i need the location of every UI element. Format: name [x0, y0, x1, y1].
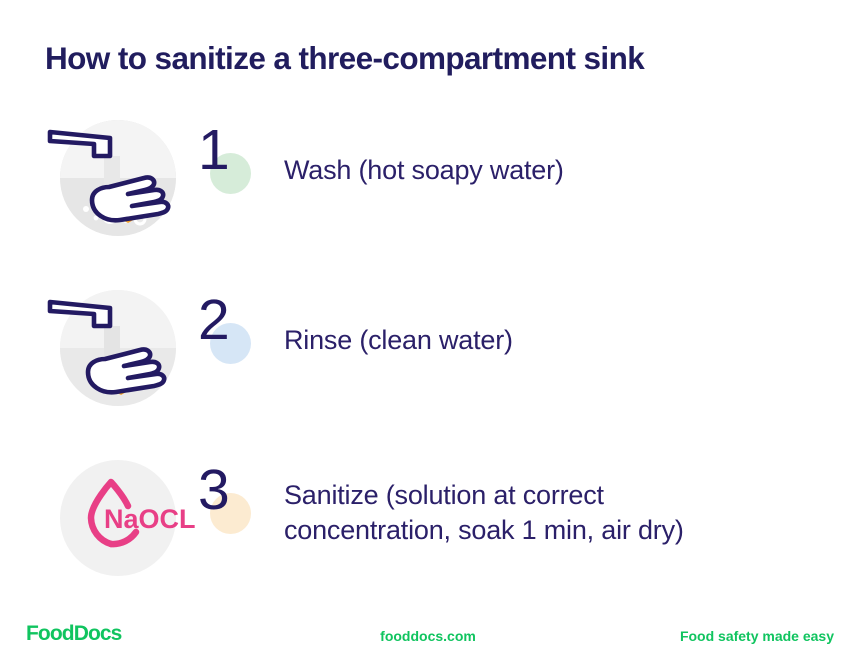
step-2-number-wrap: 2: [194, 278, 266, 418]
step-1-number-wrap: 1: [194, 108, 266, 248]
step-1-label-line1: Wash (hot soapy water): [284, 155, 564, 185]
footer: FoodDocs fooddocs.com Food safety made e…: [0, 608, 856, 670]
step-3-icon-wrap: NaOCL: [48, 448, 188, 588]
faucet-hands-sponge-bubbles-icon: [48, 108, 188, 248]
step-item-2: 2 Rinse (clean water): [0, 278, 856, 448]
faucet-hands-sponge-icon: [48, 278, 188, 418]
step-item-1: 1 Wash (hot soapy water): [0, 108, 856, 278]
step-3-label-line2: concentration, soak 1 min, air dry): [284, 513, 836, 548]
step-2-icon-wrap: [48, 278, 188, 418]
step-2-number: 2: [194, 292, 266, 349]
footer-tagline: Food safety made easy: [680, 628, 834, 644]
step-1-number: 1: [194, 122, 266, 179]
step-3-label: Sanitize (solution at correct concentrat…: [266, 448, 856, 547]
steps-list: 1 Wash (hot soapy water): [0, 108, 856, 618]
step-2-label-line1: Rinse (clean water): [284, 325, 513, 355]
step-3-number: 3: [194, 462, 266, 519]
step-item-3: NaOCL 3 Sanitize (solution at correct co…: [0, 448, 856, 618]
step-3-number-wrap: 3: [194, 448, 266, 588]
page-title: How to sanitize a three-compartment sink: [45, 40, 825, 78]
step-3-label-line1: Sanitize (solution at correct: [284, 478, 836, 513]
naocl-droplet-icon: NaOCL: [48, 448, 188, 588]
naocl-text: NaOCL: [104, 504, 196, 534]
infographic-page: How to sanitize a three-compartment sink: [0, 0, 856, 670]
step-1-label: Wash (hot soapy water): [266, 108, 856, 188]
step-2-label: Rinse (clean water): [266, 278, 856, 358]
step-1-icon-wrap: [48, 108, 188, 248]
